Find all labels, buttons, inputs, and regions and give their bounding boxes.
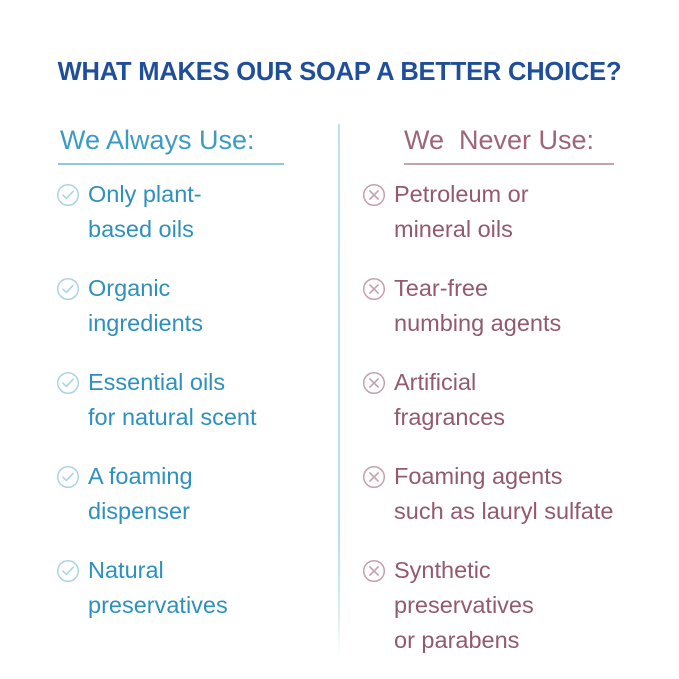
check-circle-icon <box>56 183 80 207</box>
list-item-label: Organic ingredients <box>88 271 203 341</box>
list-item-label: Essential oils for natural scent <box>88 365 257 435</box>
list-item: Artificial fragrances <box>362 365 662 435</box>
column-header-never-use: We Never Use: <box>404 124 662 161</box>
list-item-label: Tear-free numbing agents <box>394 271 561 341</box>
list-item: Tear-free numbing agents <box>362 271 662 341</box>
list-item: Foaming agents such as lauryl sulfate <box>362 459 662 529</box>
list-item-label: Natural preservatives <box>88 553 228 623</box>
list-item: Only plant- based oils <box>56 177 326 247</box>
x-circle-icon <box>362 277 386 301</box>
list-item-label: Foaming agents such as lauryl sulfate <box>394 459 613 529</box>
column-divider <box>338 124 340 656</box>
header-underline-never-use <box>404 163 614 165</box>
list-item: A foaming dispenser <box>56 459 326 529</box>
list-item-label: A foaming dispenser <box>88 459 193 529</box>
check-circle-icon <box>56 277 80 301</box>
column-never-use: We Never Use: Petroleum or mineral oils … <box>362 124 662 672</box>
x-circle-icon <box>362 371 386 395</box>
check-circle-icon <box>56 465 80 489</box>
column-header-always-use: We Always Use: <box>60 124 326 161</box>
list-item-label: Only plant- based oils <box>88 177 202 247</box>
list-item: Natural preservatives <box>56 553 326 623</box>
check-circle-icon <box>56 371 80 395</box>
list-item-label: Artificial fragrances <box>394 365 505 435</box>
list-item: Petroleum or mineral oils <box>362 177 662 247</box>
page-title: WHAT MAKES OUR SOAP A BETTER CHOICE? <box>0 58 679 87</box>
list-item-label: Petroleum or mineral oils <box>394 177 529 247</box>
list-item: Essential oils for natural scent <box>56 365 326 435</box>
x-circle-icon <box>362 465 386 489</box>
x-circle-icon <box>362 559 386 583</box>
header-underline-always-use <box>58 163 284 165</box>
list-item: Organic ingredients <box>56 271 326 341</box>
list-never-use: Petroleum or mineral oils Tear-free numb… <box>362 177 662 658</box>
check-circle-icon <box>56 559 80 583</box>
x-circle-icon <box>362 183 386 207</box>
list-item-label: Synthetic preservatives or parabens <box>394 553 534 658</box>
column-always-use: We Always Use: Only plant- based oils Or… <box>56 124 326 637</box>
list-item: Synthetic preservatives or parabens <box>362 553 662 658</box>
infographic-page: WHAT MAKES OUR SOAP A BETTER CHOICE? We … <box>0 0 679 679</box>
list-always-use: Only plant- based oils Organic ingredien… <box>56 177 326 623</box>
